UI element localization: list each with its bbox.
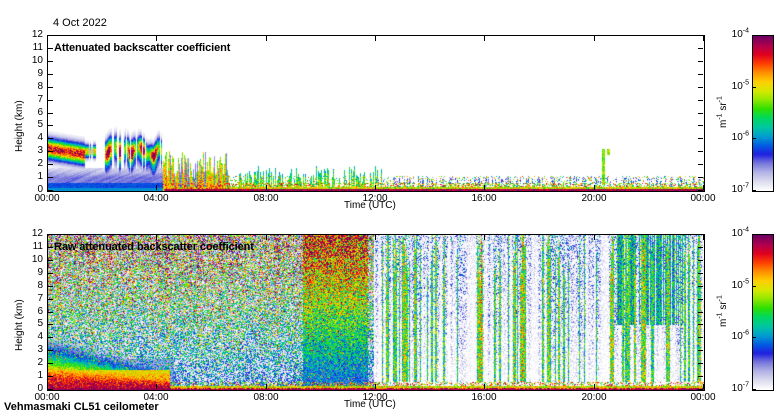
- y-tick-label: 2: [15, 358, 43, 368]
- x-tick-label: 08:00: [240, 194, 292, 204]
- plot-area-attenuated-backscatter: [47, 35, 705, 192]
- y-tick-mark: [48, 273, 53, 274]
- y-tick-mark: [48, 74, 53, 75]
- y-tick-mark: [48, 376, 53, 377]
- y-tick-mark: [48, 61, 53, 62]
- y-tick-mark-right: [698, 100, 703, 101]
- x-tick-mark: [156, 384, 157, 389]
- x-tick-mark-top: [47, 36, 48, 41]
- x-tick-mark: [594, 185, 595, 190]
- plot-area-raw-attenuated: [47, 234, 705, 391]
- y-tick-label: 3: [15, 146, 43, 156]
- y-tick-mark: [48, 389, 53, 390]
- colorbar-tick-label: 10-5: [725, 82, 749, 92]
- y-tick-mark-right: [698, 260, 703, 261]
- y-tick-label: 7: [15, 95, 43, 105]
- colorbar-canvas-top: [753, 36, 773, 191]
- x-tick-mark: [703, 384, 704, 389]
- y-tick-mark: [48, 48, 53, 49]
- y-tick-mark: [48, 350, 53, 351]
- y-tick-label: 8: [15, 281, 43, 291]
- x-tick-label: 00:00: [677, 393, 729, 403]
- x-tick-mark-top: [47, 235, 48, 240]
- y-tick-label: 1: [15, 172, 43, 182]
- y-tick-mark-right: [698, 247, 703, 248]
- x-tick-label: 20:00: [568, 393, 620, 403]
- y-tick-label: 7: [15, 294, 43, 304]
- y-tick-mark: [48, 312, 53, 313]
- colorbar-tick-mark: [752, 234, 756, 235]
- x-tick-mark-top: [375, 235, 376, 240]
- colorbar-tick-mark: [752, 138, 756, 139]
- y-tick-mark-right: [698, 74, 703, 75]
- x-tick-label: 00:00: [21, 194, 73, 204]
- y-tick-label: 6: [15, 108, 43, 118]
- x-tick-label: 00:00: [677, 194, 729, 204]
- colorbar-tick-label: 10-6: [725, 332, 749, 342]
- y-tick-label: 2: [15, 159, 43, 169]
- y-tick-mark: [48, 138, 53, 139]
- x-tick-mark: [594, 384, 595, 389]
- colorbar-top: [752, 35, 774, 192]
- y-tick-mark-right: [698, 363, 703, 364]
- y-tick-mark: [48, 87, 53, 88]
- y-tick-mark-right: [698, 273, 703, 274]
- x-tick-mark-top: [375, 36, 376, 41]
- y-tick-mark-right: [698, 138, 703, 139]
- colorbar-tick-label: 10-6: [725, 133, 749, 143]
- x-tick-mark-top: [484, 36, 485, 41]
- y-tick-mark: [48, 299, 53, 300]
- y-tick-label: 6: [15, 307, 43, 317]
- colorbar-unit-bottom: m-1 sr-1: [718, 295, 729, 327]
- y-tick-label: 5: [15, 120, 43, 130]
- x-tick-mark-top: [266, 235, 267, 240]
- x-tick-mark: [484, 384, 485, 389]
- heatmap-canvas-raw: [48, 235, 704, 390]
- colorbar-tick-label: 10-5: [725, 281, 749, 291]
- y-tick-mark: [48, 286, 53, 287]
- colorbar-tick-mark: [752, 286, 756, 287]
- y-tick-mark-right: [698, 324, 703, 325]
- y-tick-mark-right: [698, 337, 703, 338]
- y-tick-label: 11: [15, 43, 43, 53]
- y-tick-mark: [48, 164, 53, 165]
- y-tick-label: 12: [15, 229, 43, 239]
- x-tick-mark: [484, 185, 485, 190]
- y-tick-label: 10: [15, 56, 43, 66]
- y-tick-mark: [48, 125, 53, 126]
- y-tick-mark-right: [698, 151, 703, 152]
- y-tick-mark: [48, 234, 53, 235]
- colorbar-tick-mark: [752, 337, 756, 338]
- x-tick-mark-top: [156, 36, 157, 41]
- y-tick-mark-right: [698, 286, 703, 287]
- colorbar-tick-mark: [752, 35, 756, 36]
- y-tick-mark-right: [698, 312, 703, 313]
- y-tick-mark-right: [698, 164, 703, 165]
- colorbar-unit-top: m-1 sr-1: [718, 96, 729, 128]
- ceilometer-figure: 4 Oct 2022 Attenuated backscatter coeffi…: [0, 0, 780, 420]
- x-tick-mark: [266, 384, 267, 389]
- heatmap-canvas-attenuated: [48, 36, 704, 191]
- y-tick-mark-right: [698, 48, 703, 49]
- y-tick-label: 4: [15, 133, 43, 143]
- y-tick-mark: [48, 324, 53, 325]
- y-tick-label: 10: [15, 255, 43, 265]
- y-tick-mark-right: [698, 234, 703, 235]
- y-tick-label: 4: [15, 332, 43, 342]
- x-tick-mark: [156, 185, 157, 190]
- x-tick-mark: [703, 185, 704, 190]
- y-tick-mark: [48, 363, 53, 364]
- x-tick-mark-top: [156, 235, 157, 240]
- x-tick-label: 12:00: [349, 393, 401, 403]
- y-tick-label: 12: [15, 30, 43, 40]
- y-tick-mark-right: [698, 177, 703, 178]
- x-tick-label: 20:00: [568, 194, 620, 204]
- y-tick-label: 3: [15, 345, 43, 355]
- y-tick-mark: [48, 35, 53, 36]
- y-tick-mark-right: [698, 389, 703, 390]
- y-tick-label: 11: [15, 242, 43, 252]
- x-tick-label: 16:00: [458, 194, 510, 204]
- y-tick-label: 5: [15, 319, 43, 329]
- y-tick-mark: [48, 190, 53, 191]
- y-tick-mark: [48, 177, 53, 178]
- colorbar-tick-mark: [752, 389, 756, 390]
- y-tick-mark-right: [698, 61, 703, 62]
- colorbar-tick-label: 10-4: [725, 229, 749, 239]
- panel-title-attenuated: Attenuated backscatter coefficient: [54, 42, 230, 54]
- y-tick-mark-right: [698, 190, 703, 191]
- y-tick-mark-right: [698, 113, 703, 114]
- y-tick-mark-right: [698, 125, 703, 126]
- y-tick-mark: [48, 260, 53, 261]
- x-tick-mark-top: [594, 235, 595, 240]
- x-tick-label: 04:00: [130, 194, 182, 204]
- y-tick-label: 1: [15, 371, 43, 381]
- colorbar-bottom: [752, 234, 774, 391]
- y-tick-mark: [48, 337, 53, 338]
- x-tick-label: 08:00: [240, 393, 292, 403]
- x-tick-mark: [266, 185, 267, 190]
- date-label: 4 Oct 2022: [53, 17, 107, 29]
- y-tick-mark-right: [698, 87, 703, 88]
- y-tick-label: 9: [15, 69, 43, 79]
- y-tick-mark-right: [698, 35, 703, 36]
- x-tick-label: 12:00: [349, 194, 401, 204]
- x-tick-mark: [375, 185, 376, 190]
- x-tick-mark: [47, 185, 48, 190]
- colorbar-canvas-bottom: [753, 235, 773, 390]
- y-tick-label: 9: [15, 268, 43, 278]
- x-tick-label: 16:00: [458, 393, 510, 403]
- x-tick-mark-top: [703, 235, 704, 240]
- x-tick-mark-top: [594, 36, 595, 41]
- x-tick-mark-top: [266, 36, 267, 41]
- y-tick-mark-right: [698, 350, 703, 351]
- x-tick-mark-top: [484, 235, 485, 240]
- figure-footer: Vehmasmaki CL51 ceilometer: [4, 401, 159, 413]
- x-tick-mark-top: [703, 36, 704, 41]
- y-tick-label: 8: [15, 82, 43, 92]
- y-tick-mark-right: [698, 376, 703, 377]
- colorbar-tick-label: 10-4: [725, 30, 749, 40]
- x-tick-mark: [375, 384, 376, 389]
- y-tick-mark: [48, 100, 53, 101]
- y-tick-mark: [48, 247, 53, 248]
- panel-title-raw: Raw attenuated backscatter coefficient: [54, 241, 254, 253]
- y-tick-mark-right: [698, 299, 703, 300]
- y-tick-mark: [48, 151, 53, 152]
- y-tick-mark: [48, 113, 53, 114]
- colorbar-tick-mark: [752, 87, 756, 88]
- colorbar-tick-mark: [752, 190, 756, 191]
- x-tick-mark: [47, 384, 48, 389]
